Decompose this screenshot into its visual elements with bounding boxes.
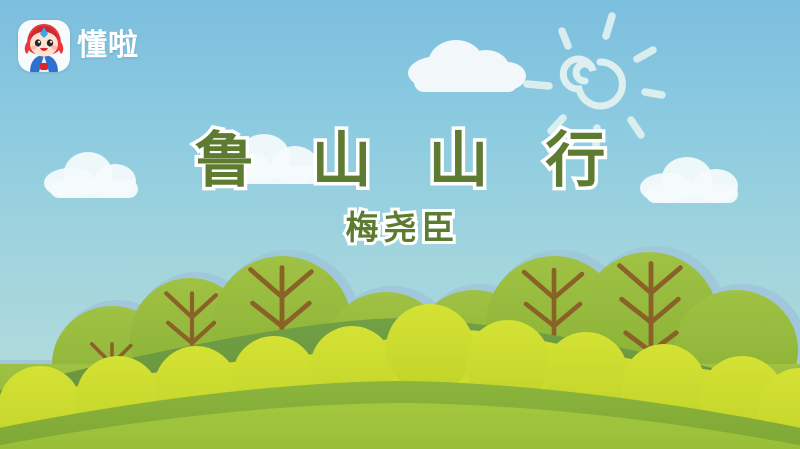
brand-logo[interactable]: 懂啦 <box>18 20 139 72</box>
app-mascot-icon <box>18 20 70 72</box>
poem-author: 梅尧臣 <box>0 201 800 249</box>
brand-name: 懂啦 <box>77 31 139 61</box>
poem-title-block: 鲁 山 山 行 梅尧臣 <box>0 128 800 249</box>
page-title: 鲁 山 山 行 <box>177 128 624 195</box>
video-frame: 鲁 山 山 行 梅尧臣 <box>0 0 800 449</box>
